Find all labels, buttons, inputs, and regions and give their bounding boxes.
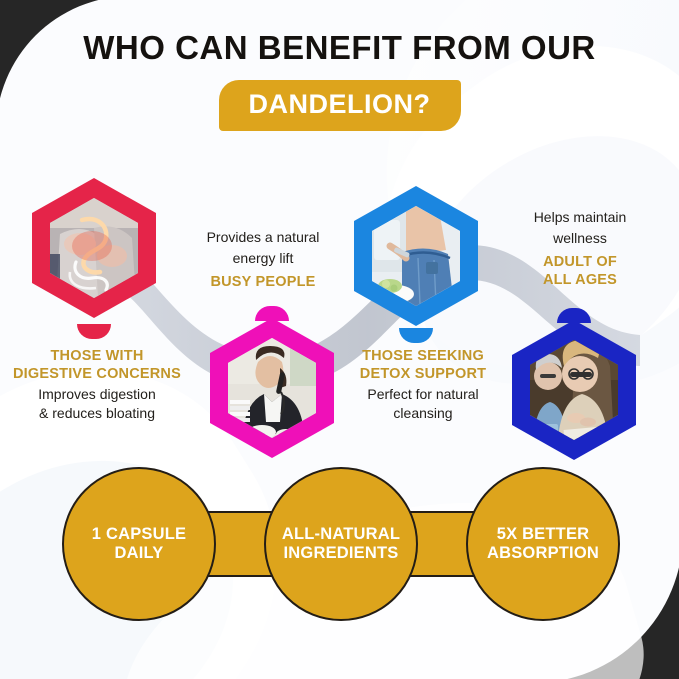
benefit-label-all-ages: Helps maintain wellness ADULT OF ALL AGE… — [492, 208, 668, 290]
benefit-desc-all-ages-line1: Helps maintain — [492, 208, 668, 226]
infographic-poster: WHO CAN BENEFIT FROM OUR DANDELION? — [0, 0, 679, 679]
image-elderly-couple — [530, 340, 618, 440]
feature-badge-capsule-text: 1 CAPSULE DAILY — [80, 525, 198, 563]
benefit-desc-all-ages-line2: wellness — [492, 229, 668, 247]
feature-capsule-line2: DAILY — [109, 544, 170, 562]
benefit-heading-busy-people: BUSY PEOPLE — [178, 274, 348, 292]
hexagon-frame-digestive — [32, 178, 156, 318]
feature-badge-natural-text: ALL-NATURAL INGREDIENTS — [270, 525, 412, 563]
benefit-heading-detox-line1: THOSE SEEKING — [334, 348, 512, 366]
image-busy-businesswoman — [228, 338, 316, 438]
benefit-card-busy-people[interactable] — [210, 318, 334, 458]
benefit-desc-digestive-line1: Improves digestion — [0, 385, 196, 403]
product-name-badge: DANDELION? — [219, 80, 461, 131]
benefit-card-all-ages[interactable] — [512, 320, 636, 460]
feature-badge-absorption[interactable]: 5X BETTER ABSORPTION — [466, 467, 620, 621]
feature-badge-row: 1 CAPSULE DAILY ALL-NATURAL INGREDIENTS … — [0, 467, 679, 627]
benefit-heading-all-ages-line1: ADULT OF — [492, 254, 668, 272]
benefit-desc-busy-people-line1: Provides a natural — [178, 228, 348, 246]
benefit-desc-digestive-line2: & reduces bloating — [0, 404, 196, 422]
header: WHO CAN BENEFIT FROM OUR DANDELION? — [0, 30, 679, 131]
benefit-heading-detox-line2: DETOX SUPPORT — [334, 366, 512, 384]
benefit-card-detox[interactable] — [354, 186, 478, 326]
feature-badge-absorption-text: 5X BETTER ABSORPTION — [475, 525, 611, 563]
feature-natural-line2: INGREDIENTS — [278, 544, 405, 562]
hexagon-photo-busy-people — [228, 338, 316, 438]
benefit-label-detox: THOSE SEEKING DETOX SUPPORT Perfect for … — [334, 348, 512, 422]
page-title: WHO CAN BENEFIT FROM OUR — [0, 30, 679, 66]
feature-badge-natural[interactable]: ALL-NATURAL INGREDIENTS — [264, 467, 418, 621]
feature-absorption-line2: ABSORPTION — [481, 544, 605, 562]
benefit-heading-digestive-line2: DIGESTIVE CONCERNS — [0, 366, 196, 384]
image-digestive-discomfort — [50, 198, 138, 298]
benefit-heading-digestive-line1: THOSE WITH — [0, 348, 196, 366]
benefit-label-busy-people: Provides a natural energy lift BUSY PEOP… — [178, 228, 348, 292]
feature-badge-capsule[interactable]: 1 CAPSULE DAILY — [62, 467, 216, 621]
hexagon-frame-busy-people — [210, 318, 334, 458]
benefit-desc-busy-people-line2: energy lift — [178, 249, 348, 267]
benefit-label-digestive: THOSE WITH DIGESTIVE CONCERNS Improves d… — [0, 348, 196, 422]
hexagon-photo-detox — [372, 206, 460, 306]
feature-capsule-line1: 1 CAPSULE — [86, 525, 192, 543]
hexagon-frame-detox — [354, 186, 478, 326]
benefit-desc-detox-line1: Perfect for natural — [334, 385, 512, 403]
title-badge-wrapper: DANDELION? — [0, 80, 679, 131]
hexagon-frame-all-ages — [512, 320, 636, 460]
image-waist-measure-detox — [372, 206, 460, 306]
benefit-card-digestive[interactable] — [32, 178, 156, 318]
hexagon-photo-digestive — [50, 198, 138, 298]
benefit-desc-detox-line2: cleansing — [334, 404, 512, 422]
feature-natural-line1: ALL-NATURAL — [276, 525, 406, 543]
feature-absorption-line1: 5X BETTER — [491, 525, 596, 543]
benefit-heading-all-ages-line2: ALL AGES — [492, 272, 668, 290]
hexagon-photo-all-ages — [530, 340, 618, 440]
